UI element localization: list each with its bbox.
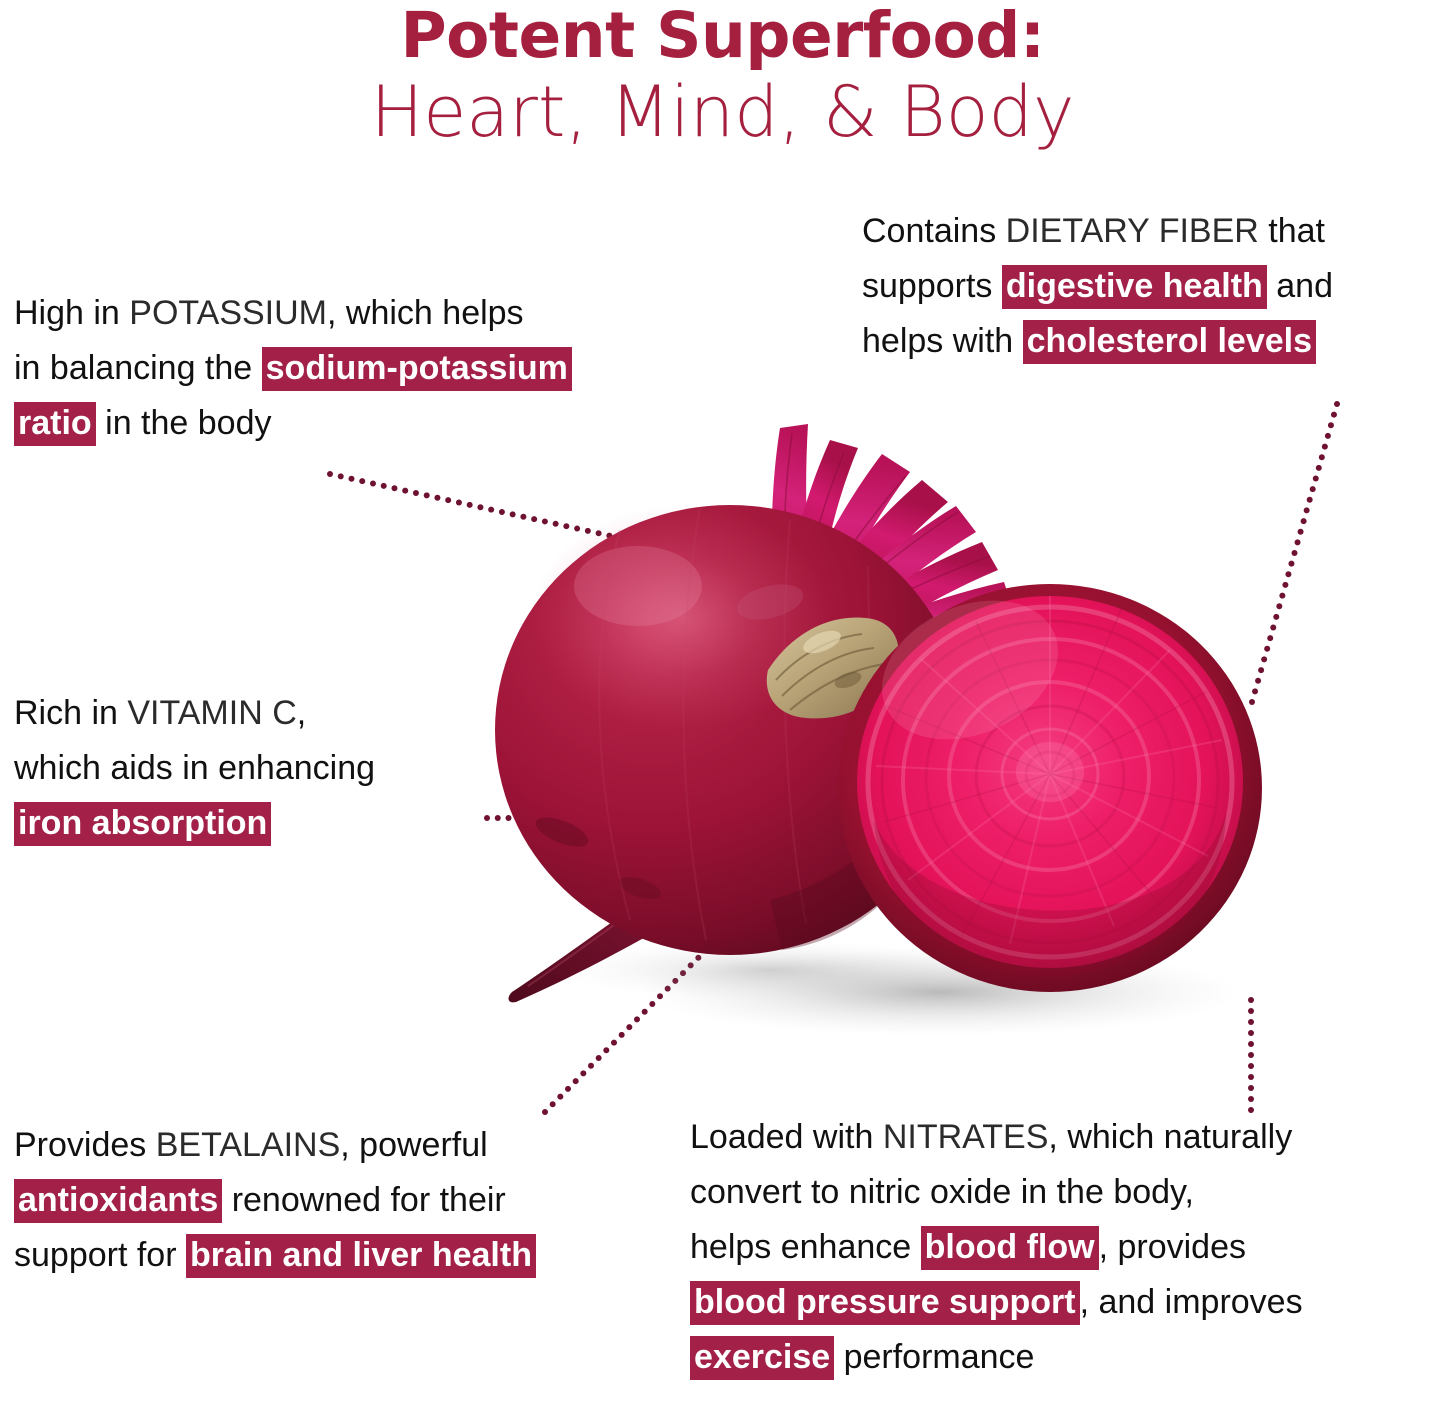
connector-nitrates-dot: [1248, 1041, 1254, 1047]
connector-nitrates-dot: [1248, 1052, 1254, 1058]
callout-line: convert to nitric oxide in the body,: [690, 1165, 1303, 1220]
infographic-page: Potent Superfood: Heart, Mind, & Body: [0, 0, 1445, 1405]
callout-line: blood pressure support, and improves: [690, 1275, 1303, 1330]
callout-line: iron absorption: [14, 796, 375, 851]
callout-text-run: , and improves: [1080, 1283, 1303, 1321]
callout-line: Contains DIETARY FIBER that: [862, 204, 1333, 259]
callout-text-run: , provides: [1099, 1228, 1246, 1266]
callout-text-run: , which naturally: [1048, 1118, 1292, 1156]
callout-line: antioxidants renowned for their: [14, 1173, 536, 1228]
highlighted-term: blood pressure support: [690, 1281, 1080, 1325]
callout-line: ratio in the body: [14, 396, 572, 451]
highlighted-term: iron absorption: [14, 802, 271, 846]
connector-potassium-dot: [424, 492, 430, 498]
connector-betalains-dot: [588, 1063, 594, 1069]
connector-nitrates-dot: [1248, 1063, 1254, 1069]
callout-text-run: renowned for their: [222, 1181, 506, 1219]
connector-betalains-dot: [573, 1078, 579, 1084]
callout-text-run: convert to nitric oxide in the body,: [690, 1173, 1194, 1211]
highlighted-term: blood flow: [921, 1226, 1099, 1270]
callout-line: which aids in enhancing: [14, 741, 375, 796]
callout-text-run: Contains: [862, 212, 1006, 250]
callout-text-run: ,: [297, 694, 306, 732]
connector-betalains-dot: [557, 1094, 563, 1100]
callout-text-run: supports: [862, 267, 1002, 305]
connector-potassium-dot: [445, 497, 451, 503]
callout-line: support for brain and liver health: [14, 1228, 536, 1283]
callout-text-run: BETALAINS: [156, 1126, 341, 1164]
callout-text-run: POTASSIUM: [129, 294, 327, 332]
connector-potassium-dot: [456, 499, 462, 505]
callout-line: High in POTASSIUM, which helps: [14, 286, 572, 341]
highlighted-term: ratio: [14, 402, 96, 446]
callout-text-run: , powerful: [340, 1126, 487, 1164]
connector-potassium-dot: [402, 488, 408, 494]
connector-potassium-dot: [327, 471, 333, 477]
highlighted-term: brain and liver health: [186, 1234, 536, 1278]
connector-potassium-dot: [391, 485, 397, 491]
connector-fiber-dot: [1331, 412, 1337, 418]
dietary-fiber-callout: Contains DIETARY FIBER thatsupports dige…: [862, 204, 1333, 369]
connector-potassium-dot: [434, 495, 440, 501]
callout-line: in balancing the sodium-potassium: [14, 341, 572, 396]
callout-text-run: which aids in enhancing: [14, 749, 375, 787]
callout-line: Loaded with NITRATES, which naturally: [690, 1110, 1303, 1165]
callout-text-run: DIETARY FIBER: [1006, 212, 1259, 250]
highlighted-term: exercise: [690, 1336, 834, 1380]
potassium-callout: High in POTASSIUM, which helpsin balanci…: [14, 286, 572, 451]
callout-line: supports digestive health and: [862, 259, 1333, 314]
callout-text-run: in the body: [96, 404, 272, 442]
callout-text-run: Rich in: [14, 694, 127, 732]
callout-text-run: VITAMIN C: [127, 694, 296, 732]
callout-text-run: helps enhance: [690, 1228, 921, 1266]
highlighted-term: antioxidants: [14, 1179, 222, 1223]
connector-betalains-dot: [542, 1109, 548, 1115]
callout-text-run: in balancing the: [14, 349, 262, 387]
callout-line: Rich in VITAMIN C,: [14, 686, 375, 741]
highlighted-term: digestive health: [1002, 265, 1267, 309]
callout-text-run: that: [1259, 212, 1325, 250]
vitamin-c-callout: Rich in VITAMIN C,which aids in enhancin…: [14, 686, 375, 851]
highlighted-term: sodium-potassium: [262, 347, 572, 391]
connector-potassium-dot: [359, 478, 365, 484]
callout-text-run: and: [1267, 267, 1333, 305]
connector-betalains-dot: [596, 1055, 602, 1061]
title-line-2: Heart, Mind, & Body: [0, 77, 1445, 147]
connector-potassium-dot: [338, 473, 344, 479]
page-title: Potent Superfood: Heart, Mind, & Body: [0, 0, 1445, 147]
highlighted-term: cholesterol levels: [1023, 320, 1316, 364]
callout-text-run: NITRATES: [883, 1118, 1049, 1156]
callout-line: exercise performance: [690, 1330, 1303, 1385]
callout-text-run: helps with: [862, 322, 1023, 360]
callout-text-run: , which helps: [327, 294, 524, 332]
connector-betalains-dot: [603, 1047, 609, 1053]
connector-nitrates-dot: [1248, 1096, 1254, 1102]
nitrates-callout: Loaded with NITRATES, which naturallycon…: [690, 1110, 1303, 1385]
callout-text-run: High in: [14, 294, 129, 332]
connector-nitrates-dot: [1248, 1085, 1254, 1091]
callout-text-run: Provides: [14, 1126, 156, 1164]
connector-betalains-dot: [550, 1101, 556, 1107]
connector-betalains-dot: [611, 1040, 617, 1046]
connector-betalains-dot: [580, 1070, 586, 1076]
connector-betalains-dot: [565, 1086, 571, 1092]
connector-potassium-dot: [413, 490, 419, 496]
callout-line: helps enhance blood flow, provides: [690, 1220, 1303, 1275]
connector-fiber-dot: [1334, 401, 1340, 407]
callout-line: Provides BETALAINS, powerful: [14, 1118, 536, 1173]
connector-nitrates-dot: [1248, 1074, 1254, 1080]
callout-text-run: performance: [834, 1338, 1034, 1376]
connector-potassium-dot: [381, 483, 387, 489]
connector-potassium-dot: [370, 480, 376, 486]
betalains-callout: Provides BETALAINS, powerfulantioxidants…: [14, 1118, 536, 1283]
connector-potassium-dot: [348, 476, 354, 482]
callout-line: helps with cholesterol levels: [862, 314, 1333, 369]
beet-illustration: [470, 380, 1330, 1040]
callout-text-run: Loaded with: [690, 1118, 883, 1156]
callout-text-run: support for: [14, 1236, 186, 1274]
title-line-1: Potent Superfood:: [0, 0, 1445, 67]
